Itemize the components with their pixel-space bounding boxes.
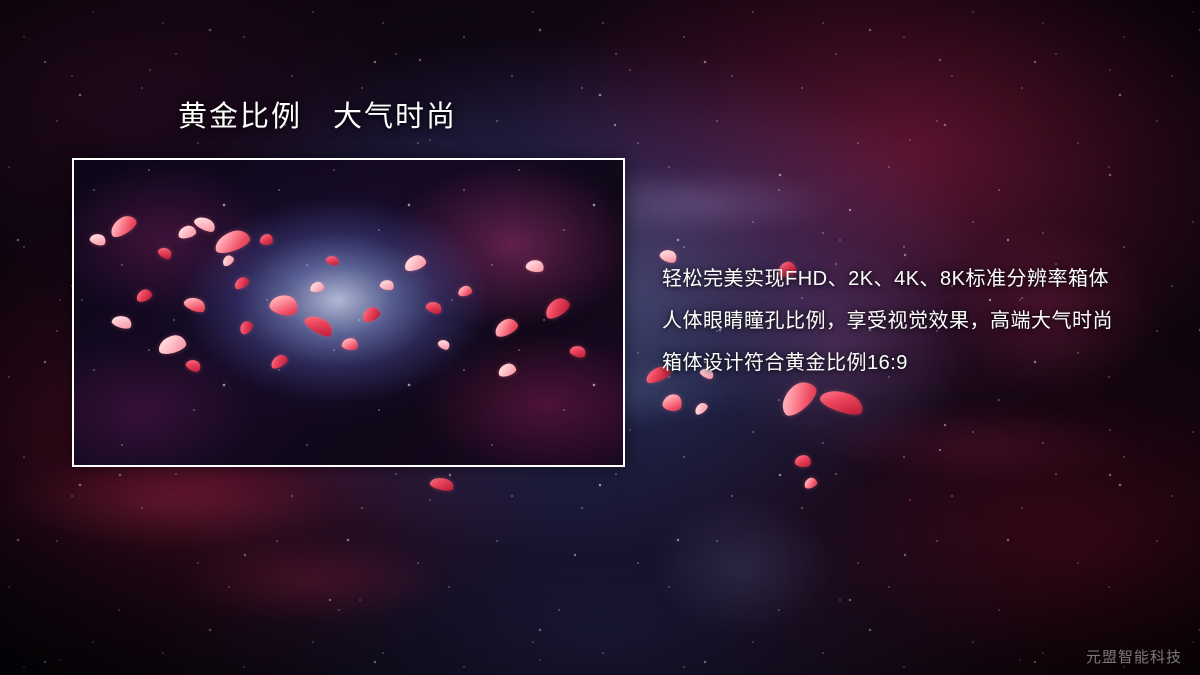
petal — [794, 454, 812, 468]
body-text-line-3: 箱体设计符合黄金比例16:9 — [662, 342, 1162, 384]
panel-starfield — [74, 160, 623, 465]
body-text-line-1: 轻松完美实现FHD、2K、4K、8K标准分辨率箱体 — [662, 258, 1162, 300]
display-panel-frame — [72, 158, 625, 467]
petal — [661, 392, 683, 413]
body-text-line-2: 人体眼睛瞳孔比例，享受视觉效果，高端大气时尚 — [662, 300, 1162, 342]
body-text-block: 轻松完美实现FHD、2K、4K、8K标准分辨率箱体 人体眼睛瞳孔比例，享受视觉效… — [662, 258, 1162, 384]
presentation-slide: 黄金比例 大气时尚 轻松完美实现FHD、2K、4K、8K标准分辨率箱体 人体眼睛… — [0, 0, 1200, 675]
watermark-text: 元盟智能科技 — [1086, 646, 1182, 667]
petal — [693, 401, 710, 416]
petal — [803, 476, 819, 490]
display-panel-screen — [74, 160, 623, 465]
petal — [818, 385, 866, 419]
petal — [429, 475, 455, 492]
slide-title: 黄金比例 大气时尚 — [178, 100, 457, 135]
